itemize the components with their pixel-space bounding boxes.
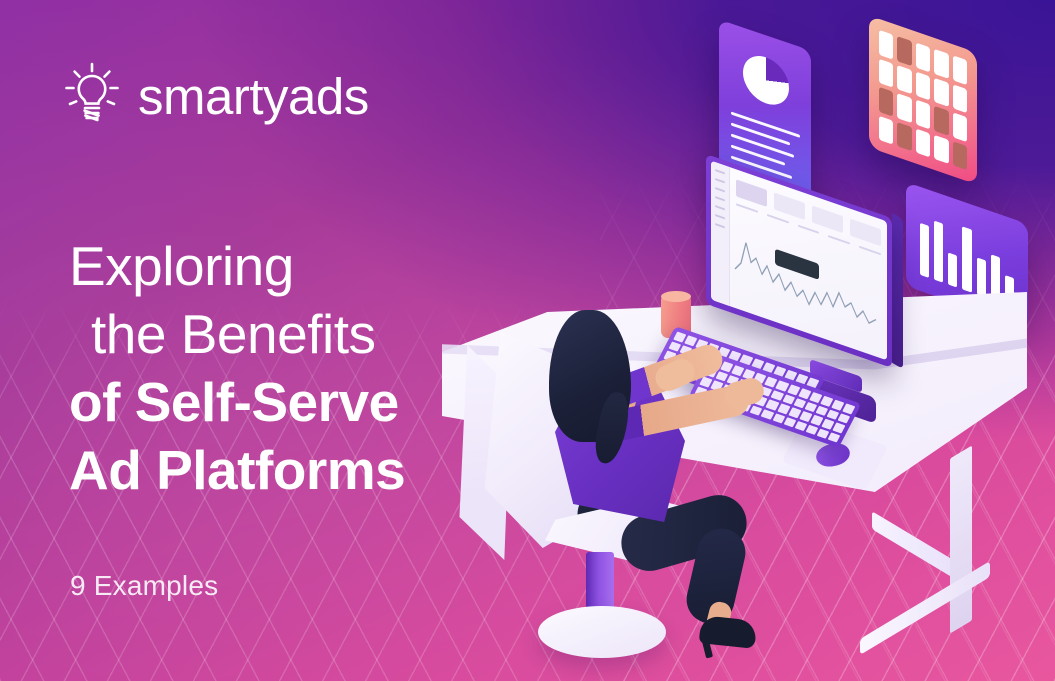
- bar-chart-bars: [920, 203, 1014, 307]
- dashboard-view: [711, 161, 887, 361]
- headline-line-4: Ad Platforms: [69, 436, 529, 504]
- calendar-card: [869, 15, 977, 184]
- lightbulb-icon: [60, 58, 124, 135]
- poster-canvas: smartyads Exploring the Benefits of Self…: [0, 0, 1055, 681]
- monitor-bezel-side: [892, 213, 903, 370]
- brand-logo[interactable]: smartyads: [60, 58, 369, 135]
- desk-leg-right: [950, 445, 972, 633]
- subtitle: 9 Examples: [70, 570, 218, 602]
- chair-base: [538, 606, 666, 658]
- brand-name: smartyads: [138, 71, 369, 122]
- high-heel-shoe: [699, 615, 758, 649]
- dashboard-sidebar: [711, 161, 730, 307]
- monitor-screen: [706, 154, 892, 368]
- headline-line-1: Exploring: [69, 232, 529, 300]
- pie-chart-icon: [743, 50, 789, 112]
- calendar-grid: [879, 30, 967, 170]
